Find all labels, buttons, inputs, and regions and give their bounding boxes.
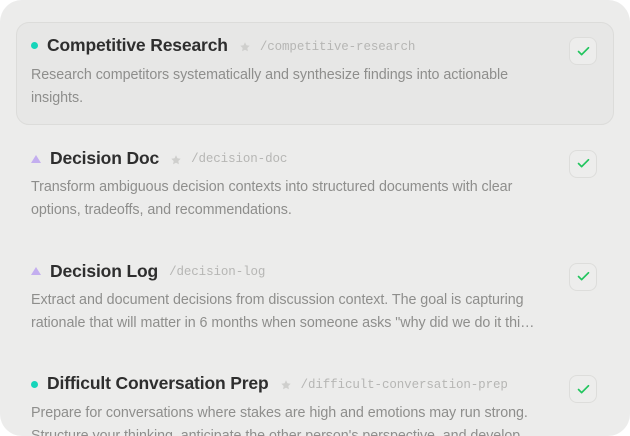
dot-marker-icon	[31, 42, 38, 49]
command-slug: /difficult-conversation-prep	[301, 379, 508, 392]
command-card-body: Decision Doc/decision-docTransform ambig…	[31, 150, 597, 223]
command-card[interactable]: Decision Doc/decision-docTransform ambig…	[16, 135, 614, 238]
command-title: Difficult Conversation Prep	[47, 375, 269, 393]
command-title: Competitive Research	[47, 37, 228, 55]
command-description: Research competitors systematically and …	[31, 64, 541, 110]
command-card-header: Decision Log/decision-log	[31, 263, 541, 281]
dot-marker-icon	[31, 381, 38, 388]
command-description: Extract and document decisions from disc…	[31, 289, 541, 335]
command-card-header: Decision Doc/decision-doc	[31, 150, 541, 168]
command-enabled-toggle[interactable]	[569, 37, 597, 65]
command-enabled-toggle[interactable]	[569, 150, 597, 178]
command-card[interactable]: Decision Log/decision-logExtract and doc…	[16, 248, 614, 351]
star-icon[interactable]	[239, 41, 251, 53]
command-card-body: Decision Log/decision-logExtract and doc…	[31, 263, 597, 336]
command-card-header: Competitive Research/competitive-researc…	[31, 37, 541, 55]
triangle-marker-icon	[31, 155, 41, 163]
command-card[interactable]: Competitive Research/competitive-researc…	[16, 22, 614, 125]
triangle-marker-icon	[31, 267, 41, 275]
command-enabled-toggle[interactable]	[569, 263, 597, 291]
command-enabled-toggle[interactable]	[569, 375, 597, 403]
command-title: Decision Log	[50, 263, 158, 281]
star-icon[interactable]	[170, 154, 182, 166]
command-description: Transform ambiguous decision contexts in…	[31, 176, 541, 222]
app-root: Competitive Research/competitive-researc…	[0, 0, 630, 436]
command-card-header: Difficult Conversation Prep/difficult-co…	[31, 375, 541, 393]
star-icon[interactable]	[280, 379, 292, 391]
command-list: Competitive Research/competitive-researc…	[0, 0, 630, 436]
check-icon	[576, 269, 591, 284]
command-slug: /competitive-research	[260, 41, 415, 54]
command-card[interactable]: Difficult Conversation Prep/difficult-co…	[16, 360, 614, 436]
command-slug: /decision-log	[169, 266, 265, 279]
check-icon	[576, 44, 591, 59]
command-card-body: Competitive Research/competitive-researc…	[31, 37, 597, 110]
command-description: Prepare for conversations where stakes a…	[31, 402, 541, 436]
command-title: Decision Doc	[50, 150, 159, 168]
command-card-body: Difficult Conversation Prep/difficult-co…	[31, 375, 597, 436]
check-icon	[576, 156, 591, 171]
check-icon	[576, 382, 591, 397]
command-slug: /decision-doc	[191, 153, 287, 166]
